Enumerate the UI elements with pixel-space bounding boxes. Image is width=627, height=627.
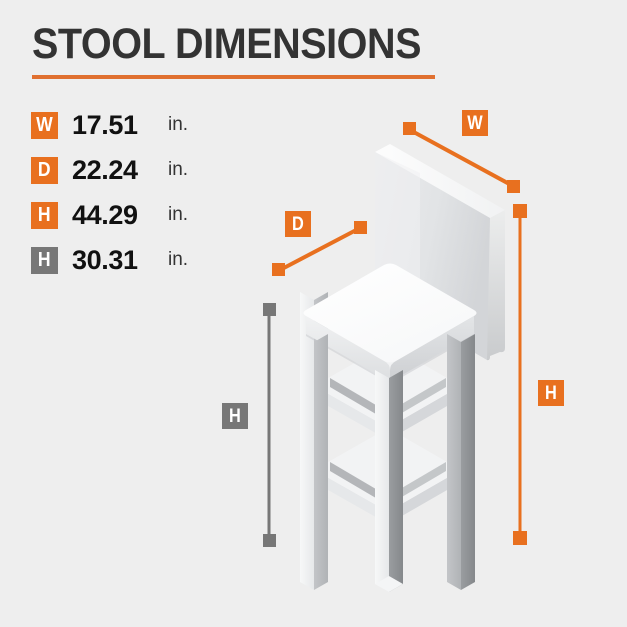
badge-height-seat: H	[31, 247, 58, 274]
diagram-badge-height-overall: H	[538, 380, 564, 406]
stool-backrest	[375, 144, 505, 360]
spec-row-height-overall: H 44.29 in.	[31, 198, 188, 232]
stool-rung-upper-back	[314, 344, 461, 438]
diagram-badge-height-seat: H	[222, 403, 248, 429]
stool-leg-back-right	[447, 292, 475, 548]
badge-height-overall-label: H	[38, 205, 51, 225]
measure-line-height-seat	[263, 303, 276, 547]
value-width: 17.51	[72, 110, 164, 141]
badge-height-overall: H	[31, 202, 58, 229]
title-underline-rule	[32, 75, 435, 79]
value-height-seat: 30.31	[72, 245, 164, 276]
dimension-spec-list: W 17.51 in. D 22.24 in. H 44.29 in. H 30…	[31, 108, 188, 288]
badge-height-seat-label: H	[38, 250, 51, 270]
diagram-badge-depth: D	[285, 211, 311, 237]
infographic-root: STOOL DIMENSIONS W 17.51 in. D 22.24 in.…	[0, 0, 627, 627]
stool-rung-upper-front	[314, 378, 461, 440]
diagram-badge-height-seat-label: H	[229, 407, 241, 426]
stool-illustration	[0, 0, 627, 627]
value-depth: 22.24	[72, 155, 164, 186]
spec-row-depth: D 22.24 in.	[31, 153, 188, 187]
stool-rung-lower-front	[314, 462, 461, 524]
diagram-badge-width-label: W	[467, 114, 482, 133]
page-title: STOOL DIMENSIONS	[32, 20, 418, 68]
badge-width: W	[31, 112, 58, 139]
diagram-badge-width: W	[462, 110, 488, 136]
spec-row-width: W 17.51 in.	[31, 108, 188, 142]
stool-leg-front-right	[447, 334, 475, 590]
unit-height-seat: in.	[168, 249, 188, 271]
badge-depth: D	[31, 157, 58, 184]
stool-seat	[304, 264, 477, 385]
diagram-badge-height-overall-label: H	[545, 384, 557, 403]
unit-depth: in.	[168, 159, 188, 181]
spec-row-height-seat: H 30.31 in.	[31, 243, 188, 277]
stool-rung-lower-back	[314, 428, 461, 522]
title-block: STOOL DIMENSIONS	[32, 20, 452, 68]
diagram-badge-depth-label: D	[292, 215, 304, 234]
stool-leg-back-left	[300, 292, 328, 548]
measure-line-height-overall	[513, 204, 527, 545]
stool-leg-front-center	[375, 370, 403, 592]
value-height-overall: 44.29	[72, 200, 164, 231]
unit-height-overall: in.	[168, 204, 188, 226]
stool-leg-front-left	[300, 334, 328, 590]
badge-depth-label: D	[38, 160, 51, 180]
badge-width-label: W	[36, 115, 53, 135]
unit-width: in.	[168, 114, 188, 136]
